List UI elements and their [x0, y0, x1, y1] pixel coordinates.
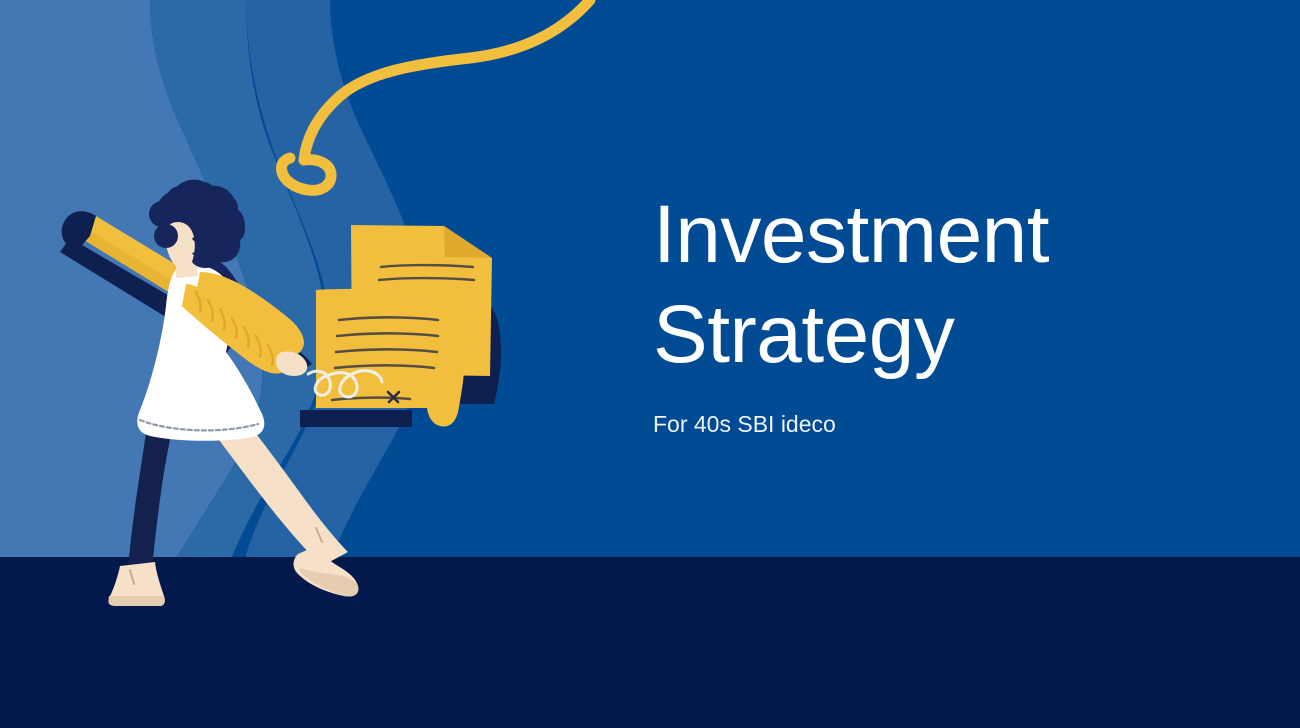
back-document-fold: [444, 226, 492, 258]
page-title: Investment Strategy: [653, 185, 1213, 385]
front-document: [316, 289, 466, 427]
document-stack: [300, 225, 501, 427]
leg-back: [125, 430, 172, 586]
navy-shelf: [300, 410, 412, 427]
yellow-swirl-line-icon: [281, 0, 590, 190]
boot-back-sole: [109, 596, 165, 606]
page-subtitle: For 40s SBI ideco: [653, 385, 1213, 439]
presentation-slide: Investment Strategy For 40s SBI ideco: [0, 0, 1300, 728]
title-text-block: Investment Strategy For 40s SBI ideco: [653, 185, 1213, 439]
